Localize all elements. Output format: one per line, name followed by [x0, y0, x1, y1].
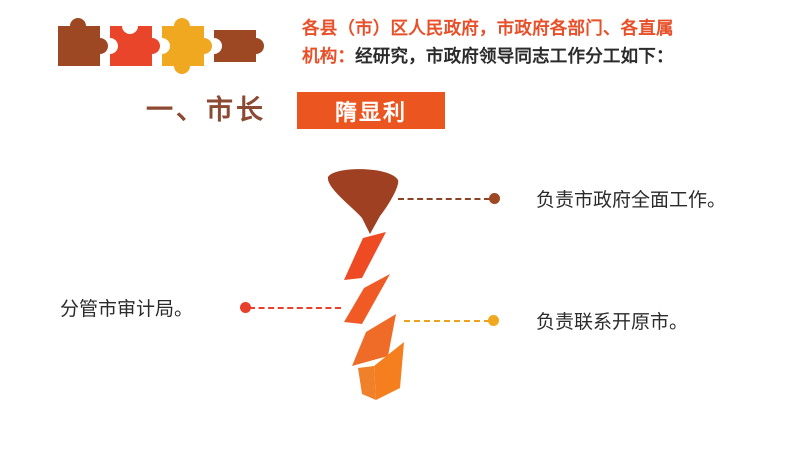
name-badge: 隋显利	[297, 92, 445, 129]
puzzle-piece-2	[110, 26, 160, 66]
connector-dot-right	[488, 315, 499, 326]
connector-dot-top	[489, 193, 500, 204]
section-title: 一、市长	[146, 92, 266, 128]
connector-line-right	[404, 320, 490, 322]
tie-knot	[328, 169, 398, 234]
connector-line-left	[249, 307, 341, 309]
header-line1-highlight: 各县（市）区人民政府，市政府各部门、各直属	[302, 18, 674, 38]
name-badge-label: 隋显利	[335, 95, 407, 127]
puzzle-piece-1	[58, 18, 108, 66]
connector-dot-left	[240, 302, 251, 313]
header-line-1: 各县（市）区人民政府，市政府各部门、各直属	[302, 14, 772, 42]
connector-line-top	[398, 198, 490, 200]
header-notice-text: 各县（市）区人民政府，市政府各部门、各直属 机构：经研究，市政府领导同志工作分工…	[302, 14, 772, 70]
puzzle-pieces-decoration	[56, 8, 266, 74]
header-line2-body: 经研究，市政府领导同志工作分工如下：	[355, 46, 674, 66]
slide-canvas: 各县（市）区人民政府，市政府各部门、各直属 机构：经研究，市政府领导同志工作分工…	[0, 0, 800, 450]
callout-label-left: 分管市审计局。	[60, 294, 193, 321]
tie-stripes	[344, 232, 404, 400]
callout-label-right: 负责联系开原市。	[536, 307, 688, 334]
puzzle-piece-3	[162, 18, 212, 74]
puzzle-piece-4	[214, 30, 264, 62]
header-line2-highlight: 机构：	[302, 46, 355, 66]
header-line-2: 机构：经研究，市政府领导同志工作分工如下：	[302, 42, 772, 70]
callout-label-top: 负责市政府全面工作。	[536, 185, 726, 212]
